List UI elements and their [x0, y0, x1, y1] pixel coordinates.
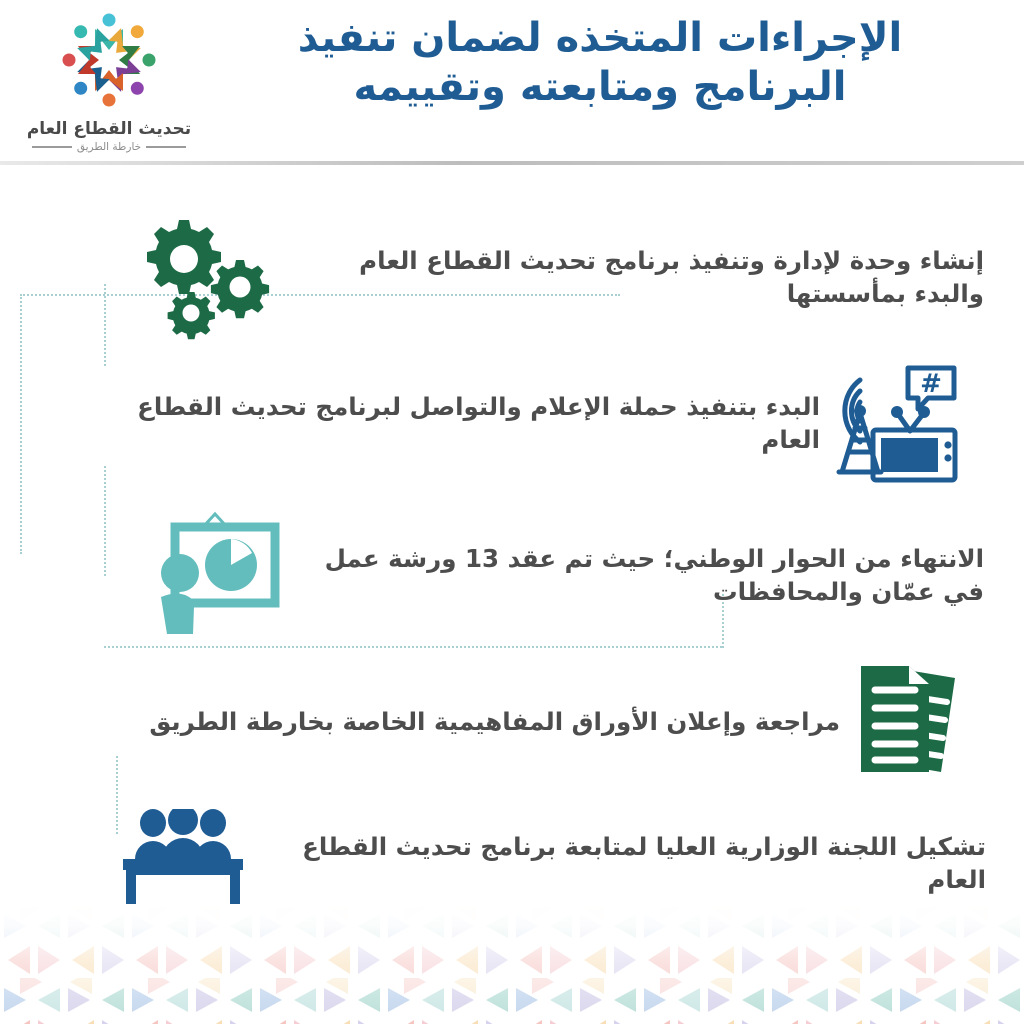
- page-title-line-1: الإجراءات المتخذه لضمان تنفيذ: [200, 14, 1000, 63]
- presentation-board-icon: [145, 509, 291, 643]
- connector-3-horizontal: [104, 646, 722, 648]
- step-3-icon: [142, 506, 294, 646]
- connector-1-vertical: [20, 294, 22, 554]
- step-2: # البدء بتنفيذ حملة الإعلام والتواصل لبر…: [30, 356, 970, 491]
- step-1: إنشاء وحدة لإدارة وتنفيذ برنامج تحديث ال…: [84, 208, 984, 348]
- step-2-icon: #: [820, 356, 970, 491]
- header: تحديث القطاع العام خارطة الطريق الإجراءا…: [0, 0, 1024, 164]
- logo-mark-icon: [47, 8, 171, 120]
- pastel-triangles-pattern-icon: [0, 904, 1024, 1024]
- page-title: الإجراءات المتخذه لضمان تنفيذ البرنامج و…: [200, 14, 1000, 112]
- gears-icon: [130, 210, 278, 346]
- step-3: الانتهاء من الحوار الوطني؛ حيث تم عقد 13…: [108, 506, 984, 646]
- documents-stack-icon: [843, 654, 971, 790]
- logo-title: تحديث القطاع العام: [27, 121, 191, 138]
- broadcast-tv-hashtag-icon: #: [824, 360, 966, 488]
- footer-pattern: [0, 904, 1024, 1024]
- svg-text:#: #: [920, 369, 942, 399]
- step-5-text: تشكيل اللجنة الوزارية العليا لمتابعة برن…: [256, 831, 986, 896]
- logo-subtitle-rule-right: [146, 146, 186, 148]
- step-2-text: البدء بتنفيذ حملة الإعلام والتواصل لبرنا…: [80, 391, 820, 456]
- steps-list: إنشاء وحدة لإدارة وتنفيذ برنامج تحديث ال…: [0, 176, 1024, 936]
- page-title-line-2: البرنامج ومتابعته وتقييمه: [200, 63, 1000, 112]
- step-4-text: مراجعة وإعلان الأوراق المفاهيمية الخاصة …: [80, 706, 840, 739]
- logo-subtitle-rule-left: [32, 146, 72, 148]
- logo-subtitle-row: خارطة الطريق: [29, 141, 189, 153]
- header-divider: [0, 161, 1024, 165]
- logo: تحديث القطاع العام خارطة الطريق: [14, 8, 204, 158]
- infographic-page: تحديث القطاع العام خارطة الطريق الإجراءا…: [0, 0, 1024, 1024]
- step-3-text: الانتهاء من الحوار الوطني؛ حيث تم عقد 13…: [294, 543, 984, 608]
- step-1-icon: [124, 208, 284, 348]
- step-4: مراجعة وإعلان الأوراق المفاهيمية الخاصة …: [34, 651, 974, 793]
- logo-subtitle: خارطة الطريق: [77, 141, 141, 153]
- step-4-icon: [840, 651, 974, 793]
- step-1-text: إنشاء وحدة لإدارة وتنفيذ برنامج تحديث ال…: [284, 245, 984, 310]
- committee-people-table-icon: [113, 809, 253, 919]
